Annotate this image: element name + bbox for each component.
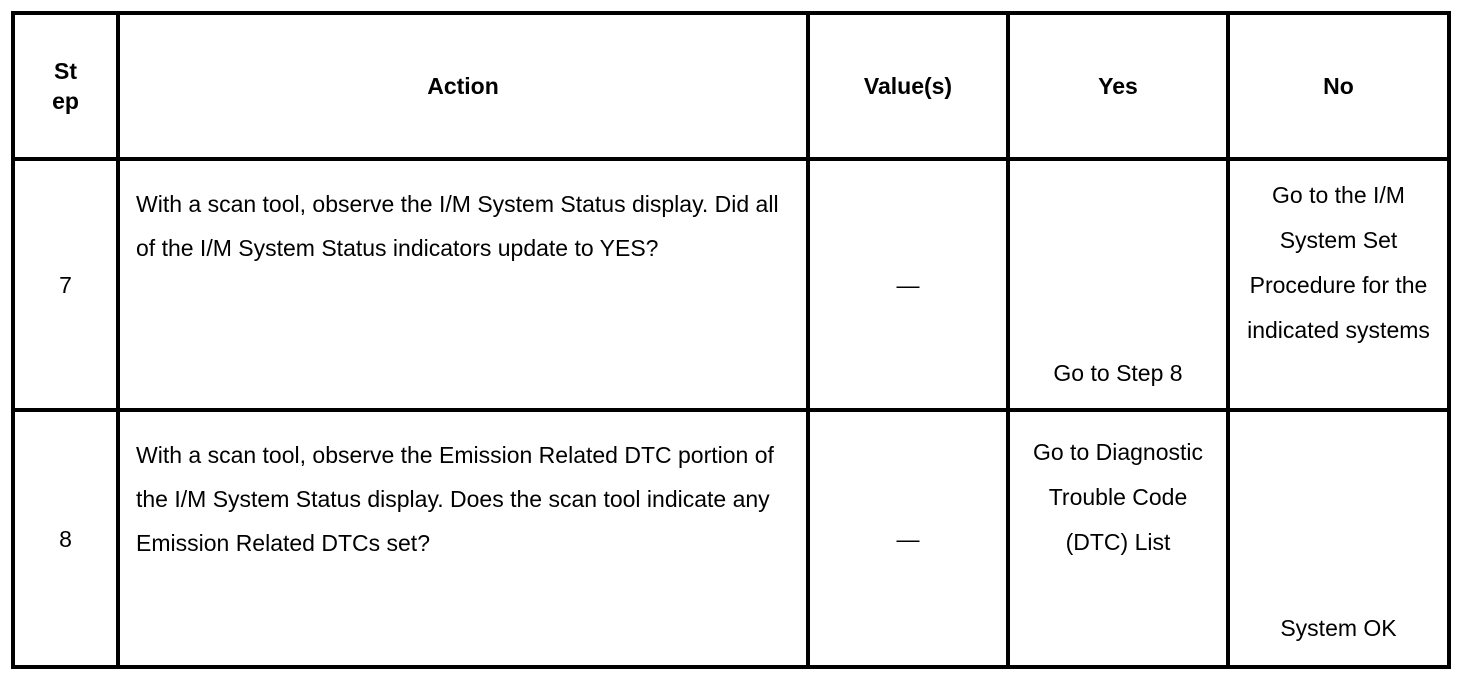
column-header-action: Action <box>118 13 808 159</box>
step-value-text: — <box>810 517 1006 561</box>
step-yes-text: Go to Step 8 <box>1010 351 1226 408</box>
step-value-cell: — <box>808 410 1008 667</box>
step-yes-text: Go to Diagnostic Trouble Code (DTC) List <box>1010 412 1226 565</box>
column-header-yes-label: Yes <box>1010 71 1226 101</box>
step-action-text: With a scan tool, observe the I/M System… <box>120 161 806 270</box>
step-action-text: With a scan tool, observe the Emission R… <box>120 412 806 565</box>
table-row: 7 With a scan tool, observe the I/M Syst… <box>13 159 1449 410</box>
step-no-cell: System OK <box>1228 410 1449 667</box>
step-number-cell: 8 <box>13 410 118 667</box>
column-header-values: Value(s) <box>808 13 1008 159</box>
column-header-yes: Yes <box>1008 13 1228 159</box>
diagnostic-step-table: St ep Action Value(s) Yes No <box>11 11 1451 669</box>
step-value-cell: — <box>808 159 1008 410</box>
column-header-no-label: No <box>1230 71 1447 101</box>
step-number: 7 <box>15 263 116 307</box>
column-header-action-label: Action <box>120 71 806 101</box>
step-value-text: — <box>810 263 1006 307</box>
table-header-row: St ep Action Value(s) Yes No <box>13 13 1449 159</box>
column-header-step: St ep <box>13 13 118 159</box>
step-yes-cell: Go to Step 8 <box>1008 159 1228 410</box>
step-number: 8 <box>15 517 116 561</box>
step-yes-cell: Go to Diagnostic Trouble Code (DTC) List <box>1008 410 1228 667</box>
step-action-cell: With a scan tool, observe the Emission R… <box>118 410 808 667</box>
column-header-step-line1: St <box>15 56 116 86</box>
step-number-cell: 7 <box>13 159 118 410</box>
step-action-cell: With a scan tool, observe the I/M System… <box>118 159 808 410</box>
diagnostic-table-page: St ep Action Value(s) Yes No <box>0 0 1472 680</box>
column-header-no: No <box>1228 13 1449 159</box>
step-no-cell: Go to the I/M System Set Procedure for t… <box>1228 159 1449 410</box>
step-no-text: Go to the I/M System Set Procedure for t… <box>1230 161 1447 353</box>
column-header-step-line2: ep <box>15 86 116 116</box>
table-row: 8 With a scan tool, observe the Emission… <box>13 410 1449 667</box>
column-header-values-label: Value(s) <box>810 71 1006 101</box>
step-no-text: System OK <box>1230 606 1447 665</box>
